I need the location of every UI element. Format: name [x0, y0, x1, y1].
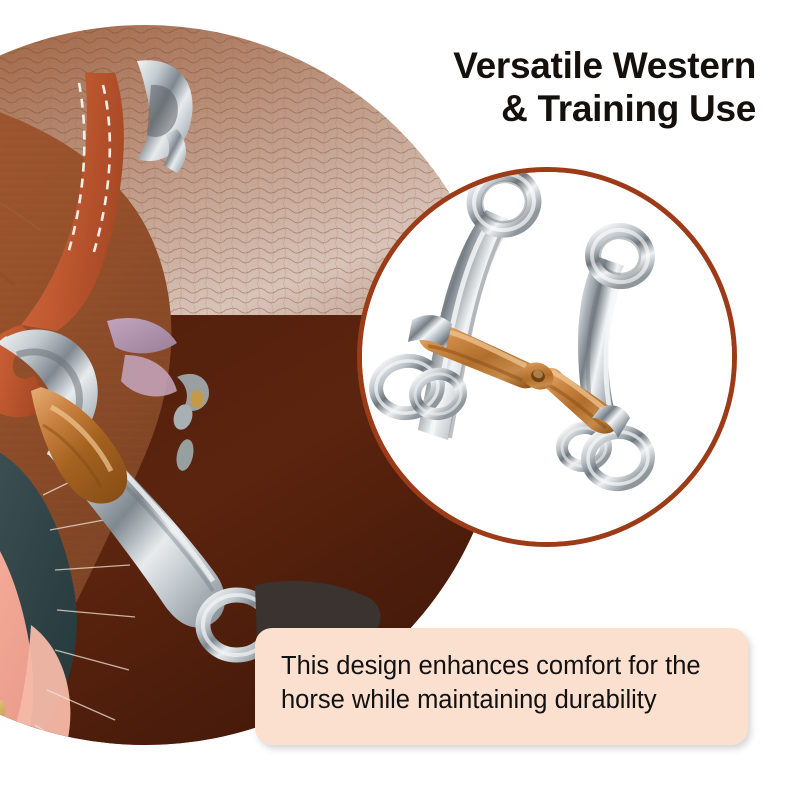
caption-text: This design enhances comfort for the hor… [281, 650, 722, 718]
caption-box: This design enhances comfort for the hor… [255, 628, 748, 745]
product-detail-circle [357, 167, 737, 547]
page-title: Versatile Western & Training Use [376, 44, 756, 131]
horse-bit-illustration [362, 172, 732, 542]
infographic-canvas: Versatile Western & Training Use [0, 0, 800, 800]
